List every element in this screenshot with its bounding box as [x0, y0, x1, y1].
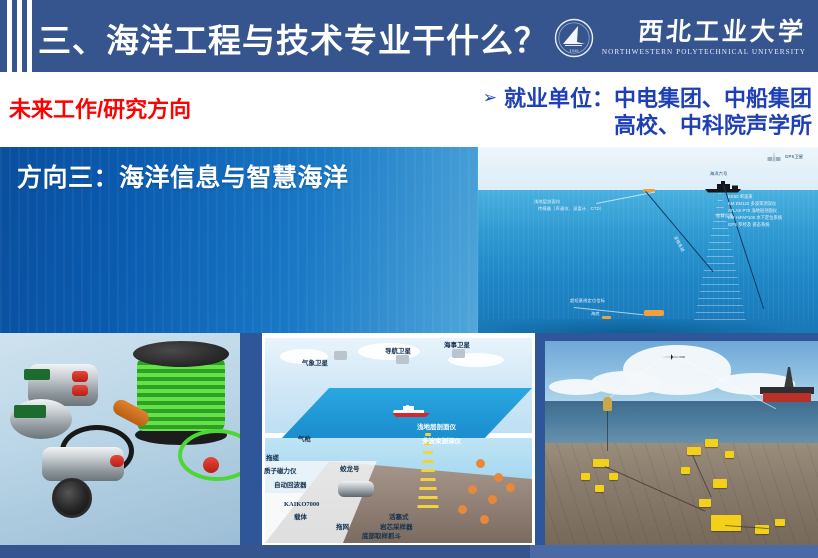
- kaiko-label: KAIKO7000: [284, 501, 319, 508]
- logo-name-cn: 西北工业大学: [637, 20, 807, 45]
- employer-block: ➢ 就业单位：中电集团、中船集团 高校、中科院声学所: [372, 85, 812, 140]
- spool-top-flange: [133, 341, 229, 367]
- deep-tow-vehicle-icon: [644, 310, 664, 316]
- shipboard-equipment-list: EK60 单波束 KM EM122 多波束测深仪 ATLAS P70 浅地层剖面…: [728, 194, 811, 229]
- subsea-production-field-photo: [545, 333, 818, 545]
- carrier-label: 载体: [294, 511, 307, 521]
- stripe-1: [7, 0, 12, 72]
- equipment-item: ATLAS P70 浅地层剖面仪: [728, 208, 811, 215]
- ocean-exploration-schematic-photo: 气象卫星 导航卫星 海事卫星 浅地层剖面仪 多波束测深仪 气枪: [262, 333, 535, 545]
- weather-satellite-icon: [334, 351, 347, 360]
- slide-footer-accent: [530, 545, 818, 558]
- maritime-satellite-icon: [452, 349, 465, 358]
- red-connector-cap-1: [72, 371, 88, 382]
- coral-3: [468, 485, 477, 494]
- circuit-board-1: [24, 369, 50, 380]
- employer-line-1: 就业单位：中电集团、中船集团: [504, 85, 812, 112]
- circuit-board-2: [14, 405, 46, 418]
- slide-header: 三、海洋工程与技术专业干什么？ 1938 西北工业大学 NORTHWESTERN…: [0, 0, 818, 72]
- navigation-satellite-icon: [396, 355, 409, 364]
- coral-7: [480, 515, 489, 524]
- coral-2: [494, 473, 503, 482]
- photo-strip: 气象卫星 导航卫星 海事卫星 浅地层剖面仪 多波束测深仪 气枪: [0, 333, 818, 545]
- seabed-label: 海底: [591, 311, 600, 317]
- subhead-band: 未来工作/研究方向 ➢ 就业单位：中电集团、中船集团 高校、中科院声学所: [0, 72, 818, 147]
- subsea-module-8: [681, 467, 690, 474]
- usbl-label: 超短基线定位信标: [570, 298, 605, 304]
- subsea-module-5: [687, 447, 701, 455]
- survey-aircraft-icon: [658, 347, 686, 352]
- employer-line-2: 高校、中科院声学所: [372, 112, 812, 139]
- multibeam-label: 多波束测深仪: [422, 435, 461, 445]
- subsea-module-3: [609, 473, 618, 480]
- subsea-module-6: [705, 439, 718, 447]
- subsea-module-9: [713, 479, 727, 488]
- submersible-jiaolong-icon: [338, 481, 374, 497]
- rig-pontoons: [763, 393, 811, 402]
- echo-sounder-label: 自动回波器: [274, 479, 307, 489]
- slide: 三、海洋工程与技术专业干什么？ 1938 西北工业大学 NORTHWESTERN…: [0, 0, 818, 558]
- svg-text:1938: 1938: [569, 49, 579, 53]
- subsea-module-4: [595, 485, 604, 492]
- university-logo: 1938 西北工业大学 NORTHWESTERN POLYTECHNICAL U…: [566, 14, 806, 62]
- airgun-label: 气枪: [298, 433, 311, 443]
- photo3-seabed: [545, 443, 818, 545]
- spool-green-cable: [137, 357, 225, 431]
- npu-emblem-icon: 1938: [554, 18, 594, 58]
- subsea-module-7: [725, 451, 734, 458]
- coral-6: [458, 505, 467, 514]
- underwater-connector-equipment-photo: [0, 333, 240, 545]
- direction-section: GPS卫星 海洋六号 浅地层剖面仪 传感器（声速仪、深度计、CTD） 深拖系统 …: [0, 147, 818, 333]
- red-connector-cap-2: [72, 385, 88, 396]
- subsea-module-2: [581, 473, 590, 480]
- research-vessel-icon: [390, 405, 432, 418]
- equipment-item: GPS 罗经及 姿态系统: [728, 222, 811, 229]
- coral-1: [476, 459, 485, 468]
- subsea-manifold: [711, 515, 741, 531]
- subsea-module-10: [699, 499, 711, 507]
- derrick-icon: [784, 367, 794, 389]
- stripe-2: [17, 0, 22, 72]
- grab-sampler-label: 底部取样抓斗: [362, 530, 401, 540]
- schematic-seabed: [478, 319, 818, 333]
- future-direction-label: 未来工作/研究方向: [9, 92, 191, 124]
- sub-bottom-profiler-label: 浅地层剖面仪: [417, 421, 456, 431]
- offshore-oil-rig-icon: [760, 367, 814, 403]
- subsea-module-12: [775, 519, 785, 526]
- buoy-mooring-line: [607, 411, 608, 451]
- marine-survey-schematic: GPS卫星 海洋六号 浅地层剖面仪 传感器（声速仪、深度计、CTD） 深拖系统 …: [478, 147, 818, 333]
- equipment-item: KM EM122 多波束测深仪: [728, 201, 811, 208]
- page-title: 三、海洋工程与技术专业干什么？: [38, 10, 548, 65]
- bullet-arrow-icon: ➢: [483, 85, 497, 111]
- proton-magnetometer-label: 质子磁力仪: [264, 465, 297, 475]
- satellite-label: GPS卫星: [785, 154, 803, 160]
- red-connector-cap-3: [110, 455, 124, 467]
- coral-5: [506, 483, 515, 492]
- towfish-label: 浅地层剖面仪: [534, 199, 560, 205]
- equipment-item: EK60 单波束: [728, 194, 811, 201]
- header-stripe-decoration: [0, 0, 40, 72]
- jiaolong-label: 蛟龙号: [340, 463, 360, 473]
- trawl-net-label: 拖网: [336, 521, 349, 531]
- streamer-label: 拖缆: [266, 452, 279, 462]
- logo-name-en: NORTHWESTERN POLYTECHNICAL UNIVERSITY: [602, 49, 806, 56]
- coral-4: [488, 495, 497, 504]
- stripe-3: [27, 0, 32, 72]
- red-connector-cap-4: [203, 457, 219, 473]
- camera-lens-housing: [52, 478, 92, 518]
- logo-text-block: 西北工业大学 NORTHWESTERN POLYTECHNICAL UNIVER…: [602, 20, 806, 56]
- weather-satellite-label: 气象卫星: [302, 357, 328, 367]
- sensor-pack-label: 传感器（声速仪、深度计、CTD）: [538, 206, 604, 212]
- maritime-satellite-label: 海事卫星: [444, 339, 470, 349]
- vessel-label: 海洋六号: [710, 171, 728, 177]
- equipment-item: KM HiPAP100 水下定位系统: [728, 215, 811, 222]
- direction-title: 方向三：海洋信息与智慧海洋: [17, 158, 349, 194]
- green-cable-spool: [133, 341, 229, 441]
- surface-buoy-icon: [603, 397, 612, 411]
- navigation-satellite-label: 导航卫星: [385, 345, 411, 355]
- seabed-transponder-icon: [602, 316, 611, 319]
- gps-satellite-icon: [766, 151, 782, 167]
- piston-label: 活塞式: [389, 511, 409, 521]
- cumulus-cloud-far-left: [549, 379, 605, 395]
